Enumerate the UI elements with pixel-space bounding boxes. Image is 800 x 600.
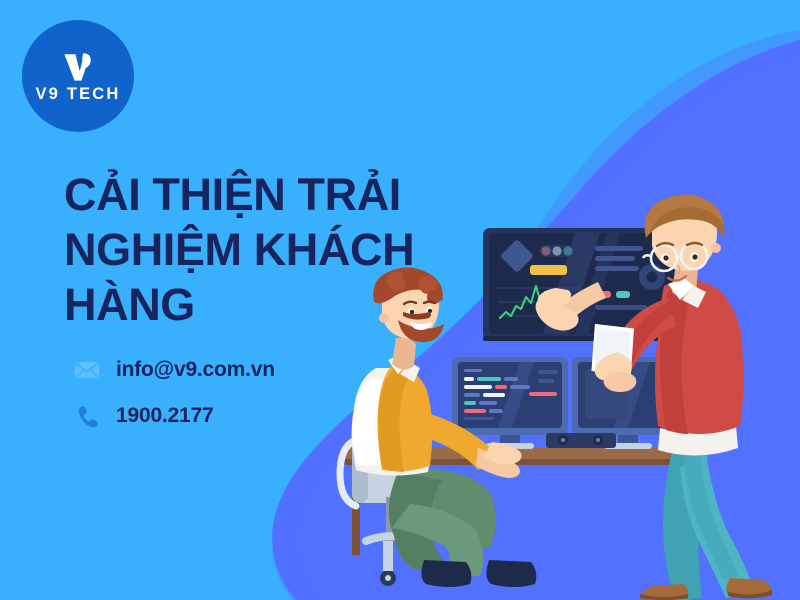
promo-banner: V9 TECH CẢI THIỆN TRẢI NGHIỆM KHÁCH HÀNG… — [0, 0, 800, 600]
v-droplet-icon — [61, 50, 95, 84]
phone-icon — [74, 403, 100, 429]
contact-row-email[interactable]: info@v9.com.vn — [74, 352, 404, 388]
envelope-icon — [74, 357, 100, 383]
email-text: info@v9.com.vn — [116, 358, 275, 382]
logo-wordmark: V9 TECH — [35, 86, 120, 103]
v9-tech-logo[interactable]: V9 TECH — [22, 20, 134, 132]
contact-row-phone[interactable]: 1900.2177 — [74, 398, 404, 434]
phone-text: 1900.2177 — [116, 404, 213, 428]
contact-list: info@v9.com.vn 1900.2177 — [74, 352, 404, 434]
page-title: CẢI THIỆN TRẢI NGHIỆM KHÁCH HÀNG — [64, 168, 464, 333]
